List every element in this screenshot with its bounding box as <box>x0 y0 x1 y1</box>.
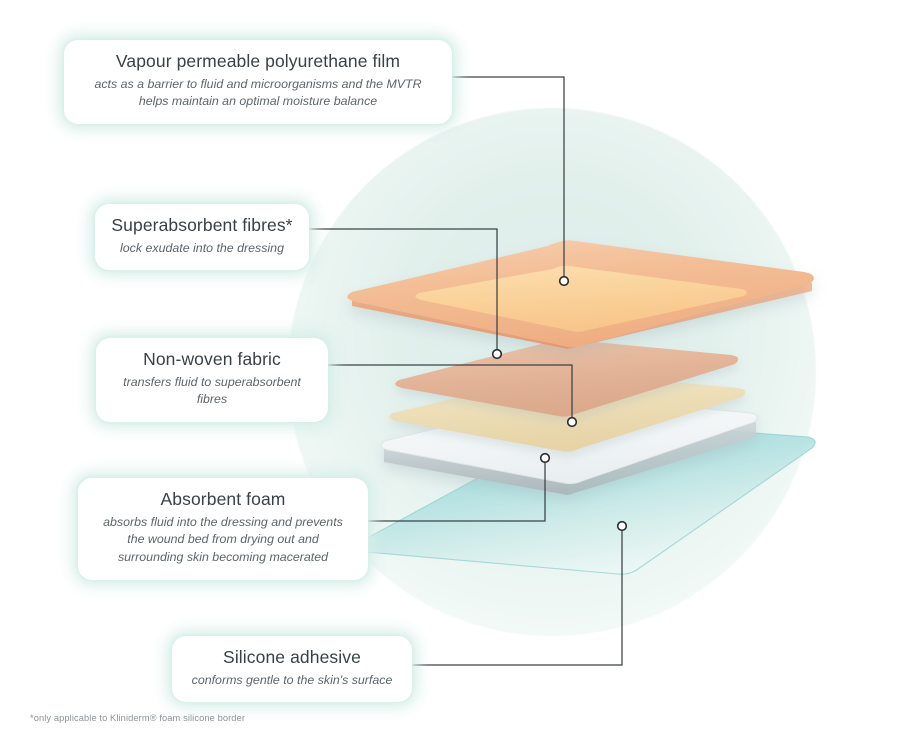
callout-superabsorbent-fibres[interactable]: Superabsorbent fibres* lock exudate into… <box>95 204 309 270</box>
leader-nonwoven <box>328 365 576 426</box>
callout-description: conforms gentle to the skin's surface <box>188 672 396 690</box>
diagram-stage: Vapour permeable polyurethane film acts … <box>0 0 905 750</box>
callout-description: absorbs fluid into the dressing and prev… <box>94 514 352 567</box>
callout-silicone-adhesive[interactable]: Silicone adhesive conforms gentle to the… <box>172 636 412 702</box>
callout-absorbent-foam[interactable]: Absorbent foam absorbs fluid into the dr… <box>78 478 368 580</box>
callout-title: Non-woven fabric <box>112 349 312 371</box>
callout-title: Absorbent foam <box>94 489 352 511</box>
callout-description: lock exudate into the dressing <box>111 240 293 258</box>
leader-silicone <box>412 522 626 665</box>
callout-title: Silicone adhesive <box>188 647 396 669</box>
callout-title: Superabsorbent fibres* <box>111 215 293 237</box>
leader-foam <box>368 454 549 521</box>
leader-fibres <box>309 229 501 358</box>
leader-film <box>452 77 568 285</box>
callout-title: Vapour permeable polyurethane film <box>80 51 436 73</box>
footnote: *only applicable to Kliniderm® foam sili… <box>30 713 245 723</box>
callout-description: transfers fluid to superabsorbent fibres <box>112 374 312 409</box>
callout-polyurethane-film[interactable]: Vapour permeable polyurethane film acts … <box>64 40 452 124</box>
callout-non-woven-fabric[interactable]: Non-woven fabric transfers fluid to supe… <box>96 338 328 422</box>
callout-description: acts as a barrier to fluid and microorga… <box>80 76 436 111</box>
